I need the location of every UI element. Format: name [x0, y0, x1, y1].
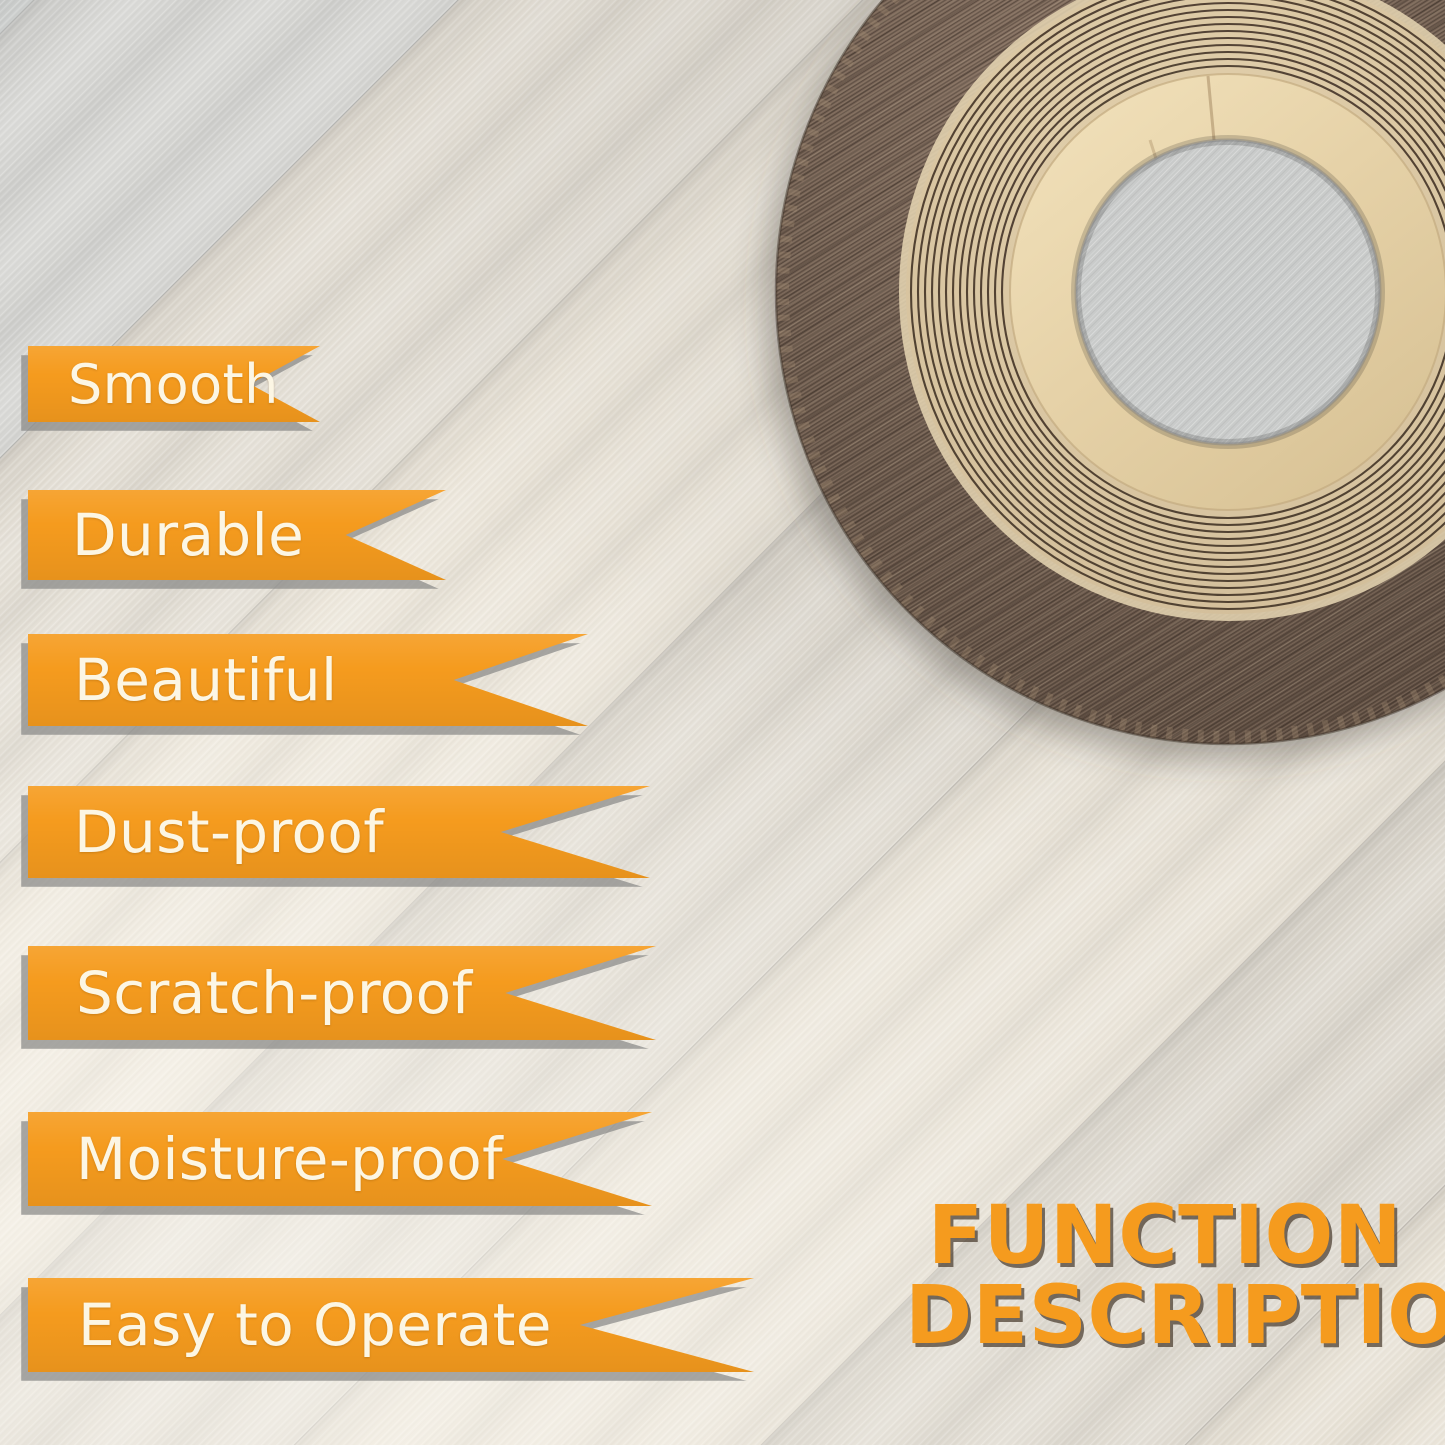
feature-banner[interactable]: Dust-proof: [28, 786, 650, 878]
feature-banner[interactable]: Moisture-proof: [28, 1112, 652, 1206]
heading-line-1: FUNCTION: [905, 1196, 1425, 1276]
feature-banner-label: Dust-proof: [74, 798, 384, 866]
feature-banner[interactable]: Smooth: [28, 346, 320, 422]
feature-banner[interactable]: Beautiful: [28, 634, 588, 726]
feature-banner-label: Beautiful: [74, 646, 338, 714]
feature-banner-label: Scratch-proof: [76, 959, 472, 1027]
feature-banner[interactable]: Durable: [28, 490, 446, 580]
feature-banner[interactable]: Scratch-proof: [28, 946, 656, 1040]
feature-banner-label: Easy to Operate: [78, 1291, 552, 1359]
feature-banner[interactable]: Easy to Operate: [28, 1278, 754, 1372]
feature-banner-label: Moisture-proof: [76, 1125, 503, 1193]
feature-banner-label: Durable: [72, 501, 304, 569]
feature-banner-label: Smooth: [68, 353, 279, 416]
heading-line-2: DESCRIPTION: [905, 1276, 1425, 1356]
section-heading: FUNCTION DESCRIPTION: [905, 1196, 1425, 1356]
product-feature-image: SmoothDurableBeautifulDust-proofScratch-…: [0, 0, 1445, 1445]
